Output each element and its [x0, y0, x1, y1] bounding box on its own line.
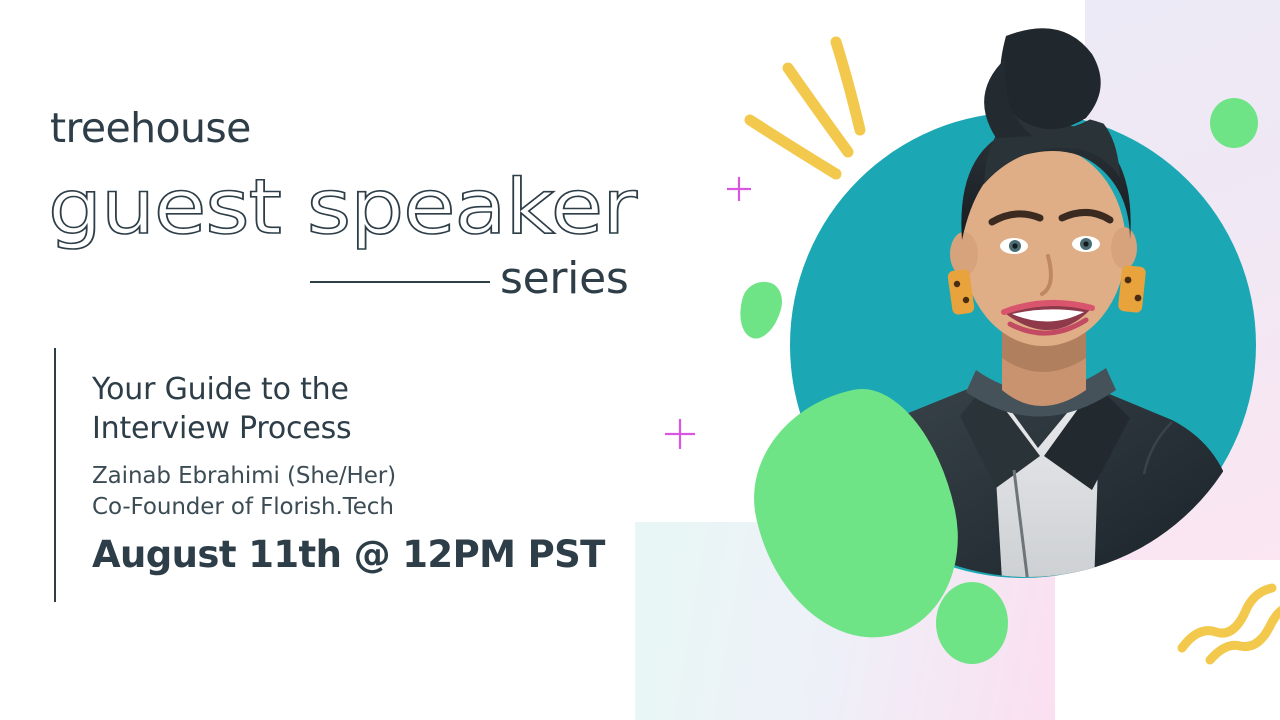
magenta-plus-icon [726, 176, 752, 202]
yellow-rays-icon [744, 36, 894, 216]
event-date-time: August 11th @ 12PM PST [92, 534, 605, 577]
yellow-squiggles-icon [1178, 586, 1280, 664]
svg-text:guest speaker: guest speaker [48, 163, 638, 251]
talk-title-line-1: Your Guide to the [92, 370, 512, 409]
vertical-divider [54, 348, 56, 602]
speaker-name: Zainab Ebrahimi (She/Her) [92, 461, 396, 492]
promo-slide: treehouse guest speaker series Your Guid… [0, 0, 1280, 720]
speaker-role: Co-Founder of Florish.Tech [92, 492, 394, 523]
text-column: treehouse guest speaker series Your Guid… [0, 0, 660, 720]
headline-outline: guest speaker [44, 163, 644, 255]
talk-title-line-2: Interview Process [92, 409, 512, 448]
series-label: series [500, 257, 629, 301]
green-blob-icon [1210, 98, 1258, 148]
talk-title: Your Guide to the Interview Process [92, 370, 512, 448]
brand-wordmark: treehouse [50, 108, 251, 149]
magenta-plus-icon [664, 418, 696, 450]
green-blob-icon [936, 582, 1008, 664]
green-blob-icon [733, 277, 787, 344]
series-divider [310, 281, 490, 283]
